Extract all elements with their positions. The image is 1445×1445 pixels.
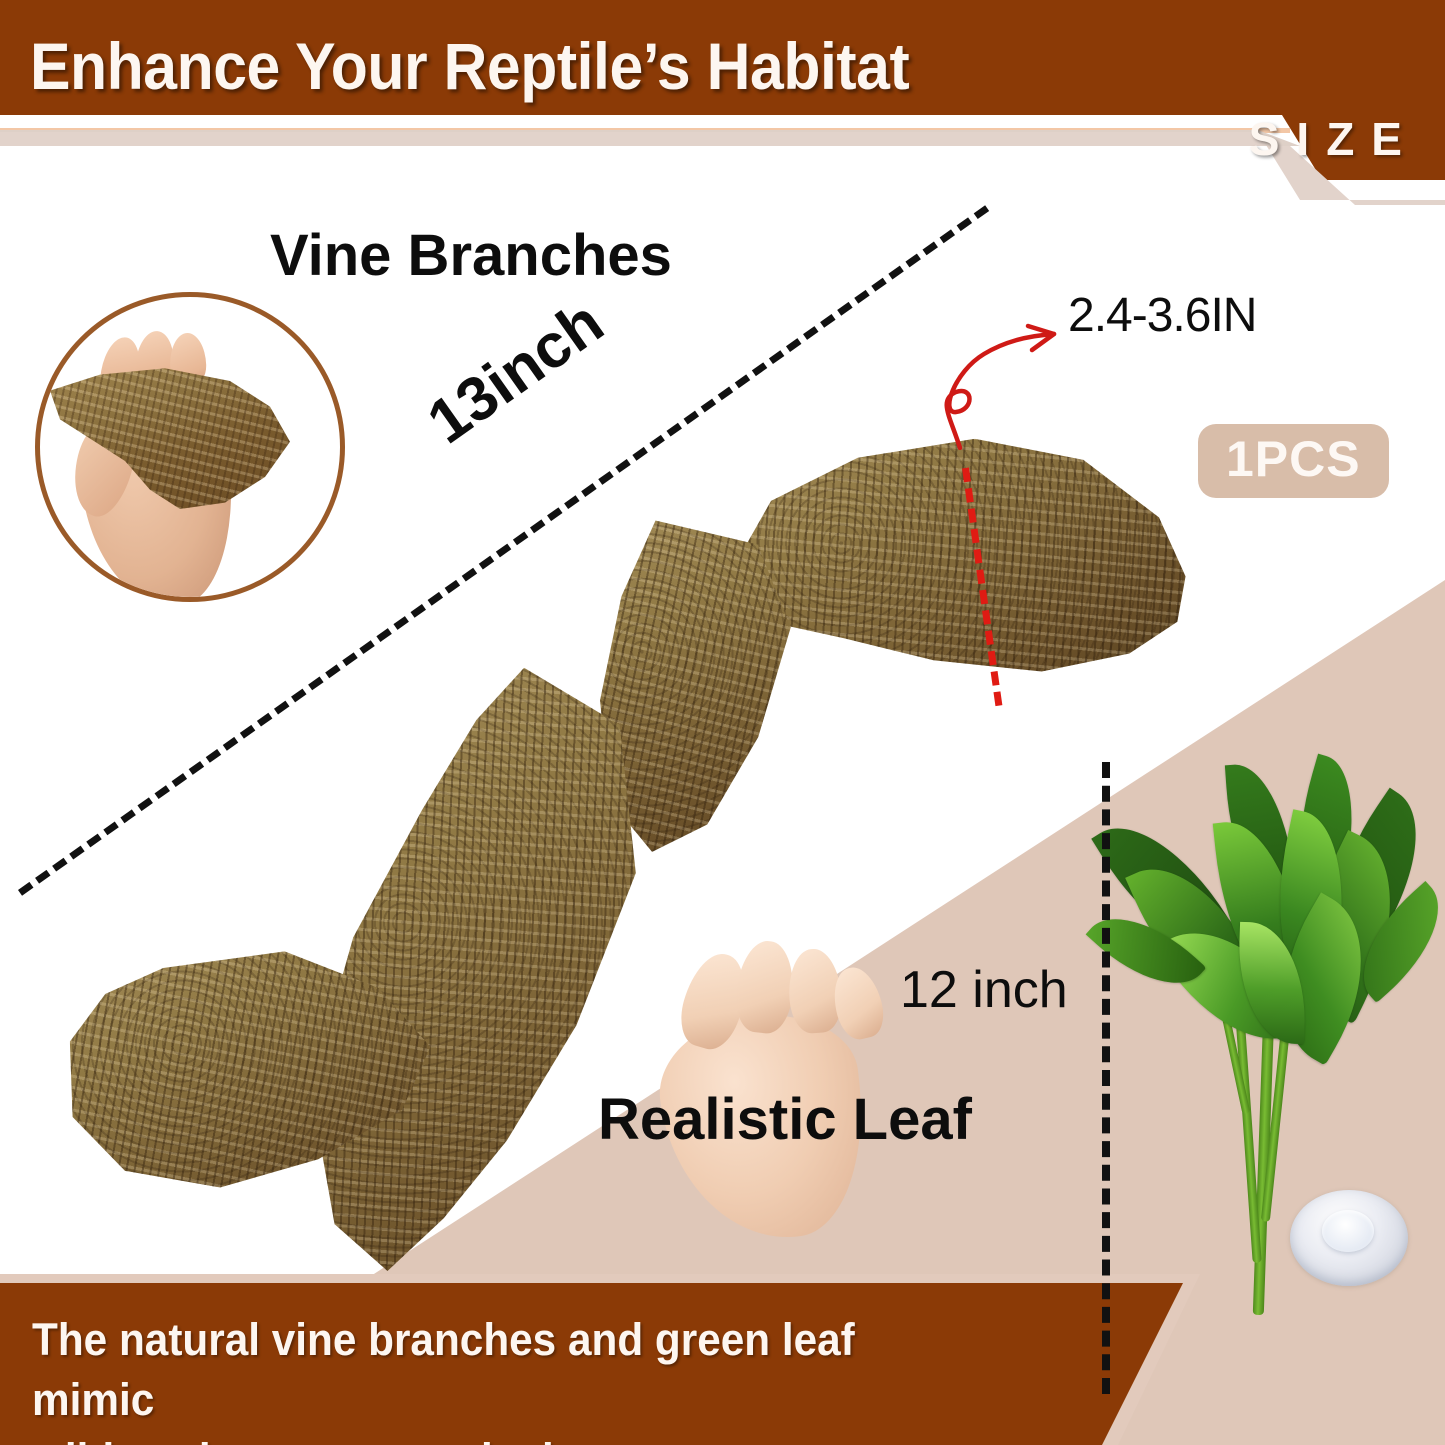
page-title: Enhance Your Reptile’s Habitat xyxy=(30,28,909,104)
footer-description-line1: The natural vine branches and green leaf… xyxy=(32,1310,972,1430)
vine-branch-closeup-photo xyxy=(35,292,345,602)
vine-branches-title: Vine Branches xyxy=(270,222,672,289)
header-beige-strip xyxy=(0,110,1445,205)
product-infographic: Enhance Your Reptile’s Habitat SIZE Vine… xyxy=(0,0,1445,1445)
leaf-length-label: 12 inch xyxy=(900,960,1068,1020)
size-label: SIZE xyxy=(1249,112,1419,166)
plant-stem xyxy=(1235,1013,1261,1263)
footer-description: The natural vine branches and green leaf… xyxy=(32,1310,972,1445)
quantity-badge: 1PCS xyxy=(1198,424,1389,498)
suction-cup-knob xyxy=(1322,1210,1374,1252)
suction-cup-icon xyxy=(1290,1190,1408,1286)
vine-thickness-label: 2.4-3.6IN xyxy=(1068,288,1256,343)
footer-description-line2: wild environments, reducing pet stress xyxy=(32,1430,972,1445)
leaf-length-dimension-line xyxy=(1102,762,1110,1394)
realistic-leaf-title: Realistic Leaf xyxy=(598,1086,972,1153)
curved-arrow-icon xyxy=(930,320,1090,450)
